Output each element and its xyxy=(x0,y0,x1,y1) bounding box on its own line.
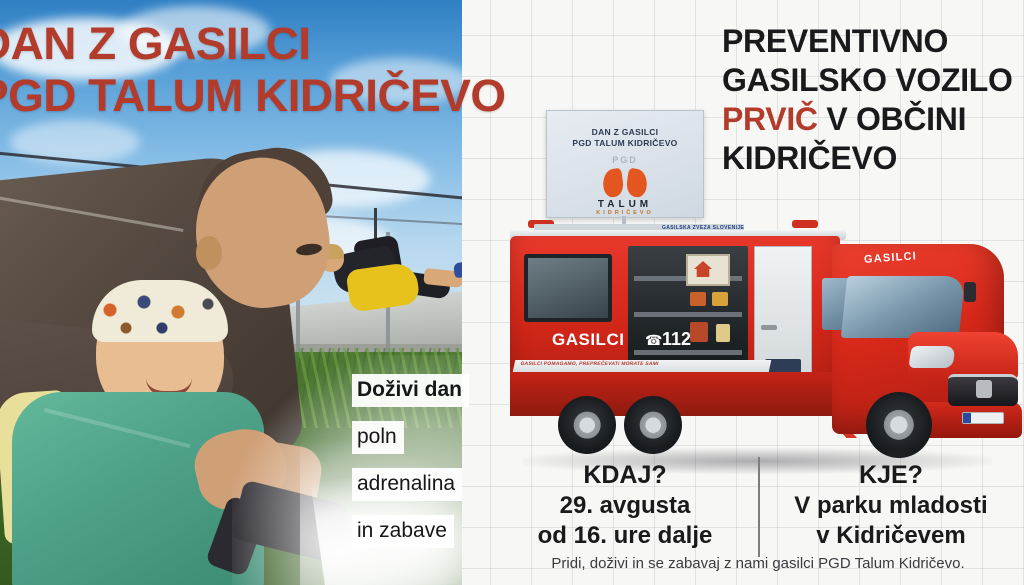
overlay-line-4: in zabave xyxy=(352,515,454,548)
headline-line-1: DAN Z GASILCI xyxy=(0,18,506,70)
shirt-seam xyxy=(0,194,184,232)
brand-badge xyxy=(976,380,992,398)
where-place: V parku mladosti xyxy=(758,491,1024,521)
wheel xyxy=(558,396,616,454)
sign-pgd-label: PGD xyxy=(547,155,703,165)
sign-title-line1: DAN Z GASILCI xyxy=(547,127,703,137)
zipline-rider xyxy=(312,222,462,332)
warning-beacon xyxy=(792,220,818,228)
windshield xyxy=(841,276,966,338)
shelf xyxy=(634,312,742,317)
overlay-text-block: Doživi dan poln adrenalina in zabave xyxy=(352,374,469,548)
secondary-headline-line-4: KIDRIČEVO xyxy=(722,139,1013,178)
adult-ear xyxy=(196,236,222,270)
secondary-headline-line-1: PREVENTIVNO xyxy=(722,22,1013,61)
when-question: KDAJ? xyxy=(492,460,758,491)
side-slogan-strip: GASILCI POMAGAMO, PREPREČEVATI MORATE SA… xyxy=(513,360,772,372)
gasilci-banner: GASILCI ☎ 112 xyxy=(512,328,748,362)
slogan-text: GASILCI POMAGAMO, PREPREČEVATI MORATE SA… xyxy=(520,361,659,367)
secondary-headline-line-3: PRVIČ V OBČINI xyxy=(722,100,1013,139)
overlay-line-1: Doživi dan xyxy=(352,374,469,407)
headline-line-2: PGD TALUM KIDRIČEVO xyxy=(0,70,506,122)
plate-eu-band xyxy=(963,413,971,423)
wheel xyxy=(624,396,682,454)
wheel-hub xyxy=(884,410,914,440)
wheel-hub xyxy=(640,412,667,439)
bandana-pattern xyxy=(92,280,228,342)
wheel-hub xyxy=(574,412,601,439)
secondary-headline: PREVENTIVNO GASILSKO VOZILO PRVIČ V OBČI… xyxy=(722,22,1013,178)
equipment-item xyxy=(712,292,728,306)
when-time: od 16. ure dalje xyxy=(492,521,758,551)
gasilci-text: GASILCI xyxy=(552,330,624,350)
overlay-line-3: adrenalina xyxy=(352,468,462,501)
rider-yellow-shirt xyxy=(345,261,420,312)
overlay-line-2: poln xyxy=(352,421,404,454)
where-question: KJE? xyxy=(758,460,1024,491)
board-graphic xyxy=(694,261,712,277)
side-mirror xyxy=(964,282,976,302)
event-details: KDAJ? 29. avgusta od 16. ure dalje KJE? … xyxy=(492,455,1024,585)
highlight-prvic: PRVIČ xyxy=(722,101,818,137)
main-headline: DAN Z GASILCI PGD TALUM KIDRIČEVO xyxy=(0,18,506,122)
sign-brand: TALUM xyxy=(547,199,703,210)
when-date: 29. avgusta xyxy=(492,491,758,521)
phone-icon: ☎ xyxy=(645,332,662,349)
where-city: v Kidričevem xyxy=(758,521,1024,551)
sign-title-line2: PGD TALUM KIDRIČEVO xyxy=(547,138,703,148)
tagline: Pridi, doživi in se zabavaj z nami gasil… xyxy=(492,555,1024,572)
jacket-fold xyxy=(44,408,191,448)
display-screen xyxy=(524,254,612,322)
roof-sign-board: DAN Z GASILCI PGD TALUM KIDRIČEVO PGD TA… xyxy=(546,110,704,218)
emergency-number: 112 xyxy=(662,329,691,350)
headlight xyxy=(908,346,955,368)
secondary-headline-line-3-rest: V OBČINI xyxy=(826,101,966,137)
equipment-item xyxy=(690,292,706,306)
child-bandana xyxy=(92,280,228,342)
talum-butterfly-logo xyxy=(602,169,648,197)
door-handle xyxy=(761,325,777,330)
secondary-headline-line-2: GASILSKO VOZILO xyxy=(722,61,1013,100)
info-board xyxy=(686,254,730,286)
column-divider xyxy=(758,457,760,557)
rider-shoe xyxy=(453,261,462,278)
licence-plate xyxy=(962,412,1004,424)
poster-canvas: DAN Z GASILCI PGD TALUM KIDRIČEVO PGD TA… xyxy=(0,0,1024,585)
